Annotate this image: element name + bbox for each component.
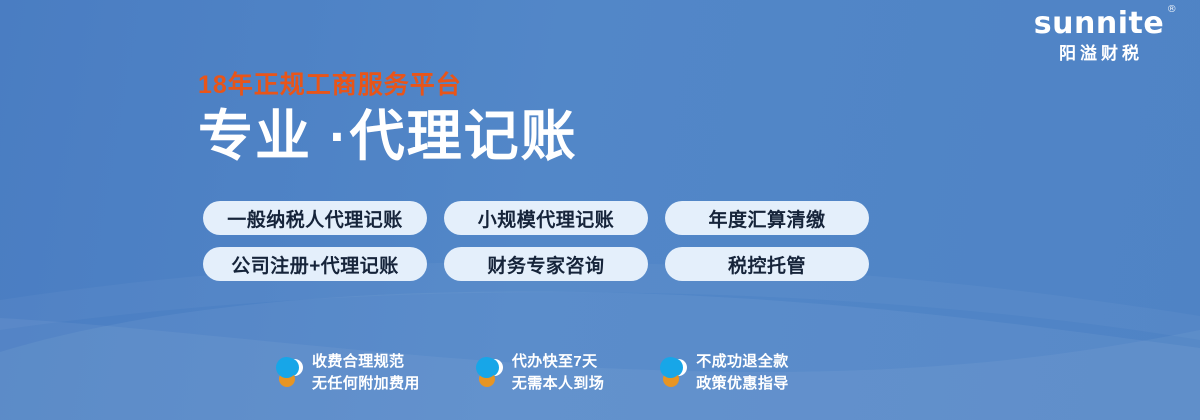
dual-circle-icon <box>476 357 503 388</box>
logo-chinese-name: 阳溢财税 <box>1014 45 1184 64</box>
hero-text-block: 18年正规工商服务平台 专业 ·代理记账 <box>198 72 578 167</box>
feature-line-2: 政策优惠指导 <box>696 373 788 395</box>
feature-line-1: 收费合理规范 <box>312 351 420 373</box>
service-pill-row-2: 公司注册+代理记账 财务专家咨询 税控托管 <box>203 247 869 281</box>
service-pill-general-taxpayer-bookkeeping[interactable]: 一般纳税人代理记账 <box>203 201 427 235</box>
dual-circle-icon <box>660 357 687 388</box>
feature-line-2: 无任何附加费用 <box>312 373 420 395</box>
service-pill-small-scale-bookkeeping[interactable]: 小规模代理记账 <box>444 201 648 235</box>
feature-line-1: 不成功退全款 <box>696 351 788 373</box>
promo-banner: sunnite ® 阳溢财税 18年正规工商服务平台 专业 ·代理记账 一般纳税… <box>0 0 1200 420</box>
feature-text-pricing: 收费合理规范 无任何附加费用 <box>312 351 420 395</box>
feature-item-guarantee: 不成功退全款 政策优惠指导 <box>660 351 788 395</box>
registered-trademark-icon: ® <box>1167 5 1178 15</box>
hero-eyebrow: 18年正规工商服务平台 <box>198 72 578 100</box>
service-pill-tax-control-hosting[interactable]: 税控托管 <box>665 247 869 281</box>
service-pill-groups: 一般纳税人代理记账 小规模代理记账 年度汇算清缴 公司注册+代理记账 财务专家咨… <box>203 201 869 281</box>
feature-line-1: 代办快至7天 <box>512 351 604 373</box>
feature-line-2: 无需本人到场 <box>512 373 604 395</box>
service-pill-company-registration-bookkeeping[interactable]: 公司注册+代理记账 <box>203 247 427 281</box>
feature-strip: 收费合理规范 无任何附加费用 代办快至7天 无需本人到场 <box>276 351 789 395</box>
feature-text-guarantee: 不成功退全款 政策优惠指导 <box>696 351 788 395</box>
feature-item-pricing: 收费合理规范 无任何附加费用 <box>276 351 420 395</box>
service-pill-row-1: 一般纳税人代理记账 小规模代理记账 年度汇算清缴 <box>203 201 869 235</box>
dual-circle-icon <box>276 357 303 388</box>
feature-text-speed: 代办快至7天 无需本人到场 <box>512 351 604 395</box>
feature-item-speed: 代办快至7天 无需本人到场 <box>476 351 604 395</box>
logo-wordmark-text: sunnite <box>1034 6 1164 41</box>
brand-logo: sunnite ® 阳溢财税 <box>1014 8 1184 63</box>
service-pill-annual-settlement[interactable]: 年度汇算清缴 <box>665 201 869 235</box>
service-pill-finance-expert-consulting[interactable]: 财务专家咨询 <box>444 247 648 281</box>
hero-headline: 专业 ·代理记账 <box>198 106 578 168</box>
logo-wordmark: sunnite ® <box>1034 8 1164 40</box>
